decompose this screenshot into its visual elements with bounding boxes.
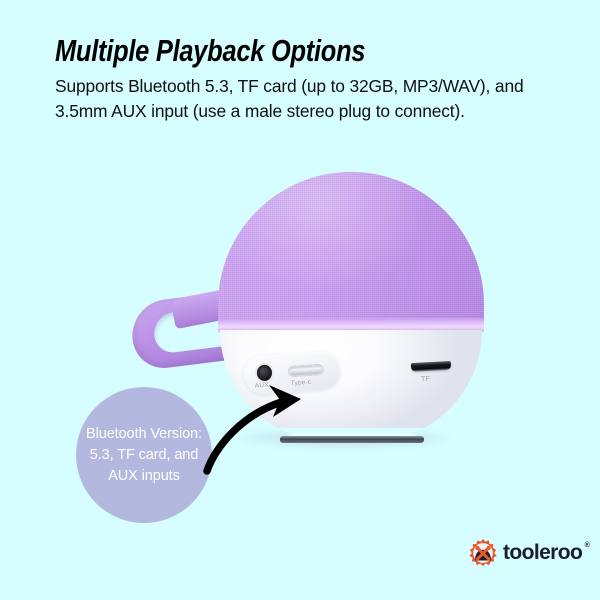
brand-wordmark: tooleroo ®: [503, 541, 582, 565]
registered-trademark-icon: ®: [585, 542, 590, 549]
tooleroo-gear-icon: [468, 538, 498, 568]
page-title: Multiple Playback Options: [55, 34, 465, 68]
speaker-mesh-dome: [218, 172, 484, 324]
page-root: Multiple Playback Options Supports Bluet…: [0, 0, 600, 600]
tf-card-slot-label: TF: [421, 376, 431, 383]
description-text: Supports Bluetooth 5.3, TF card (up to 3…: [55, 74, 537, 124]
description-line-1: Supports Bluetooth 5.3, TF card (up to 3…: [55, 76, 524, 96]
curved-arrow-icon: [185, 355, 345, 495]
brand-logo: tooleroo ®: [468, 538, 582, 568]
brand-name-text: tooleroo: [503, 541, 582, 564]
description-line-2: 3.5mm AUX input (use a male stereo plug …: [55, 101, 465, 121]
header-block: Multiple Playback Options Supports Bluet…: [55, 34, 555, 124]
